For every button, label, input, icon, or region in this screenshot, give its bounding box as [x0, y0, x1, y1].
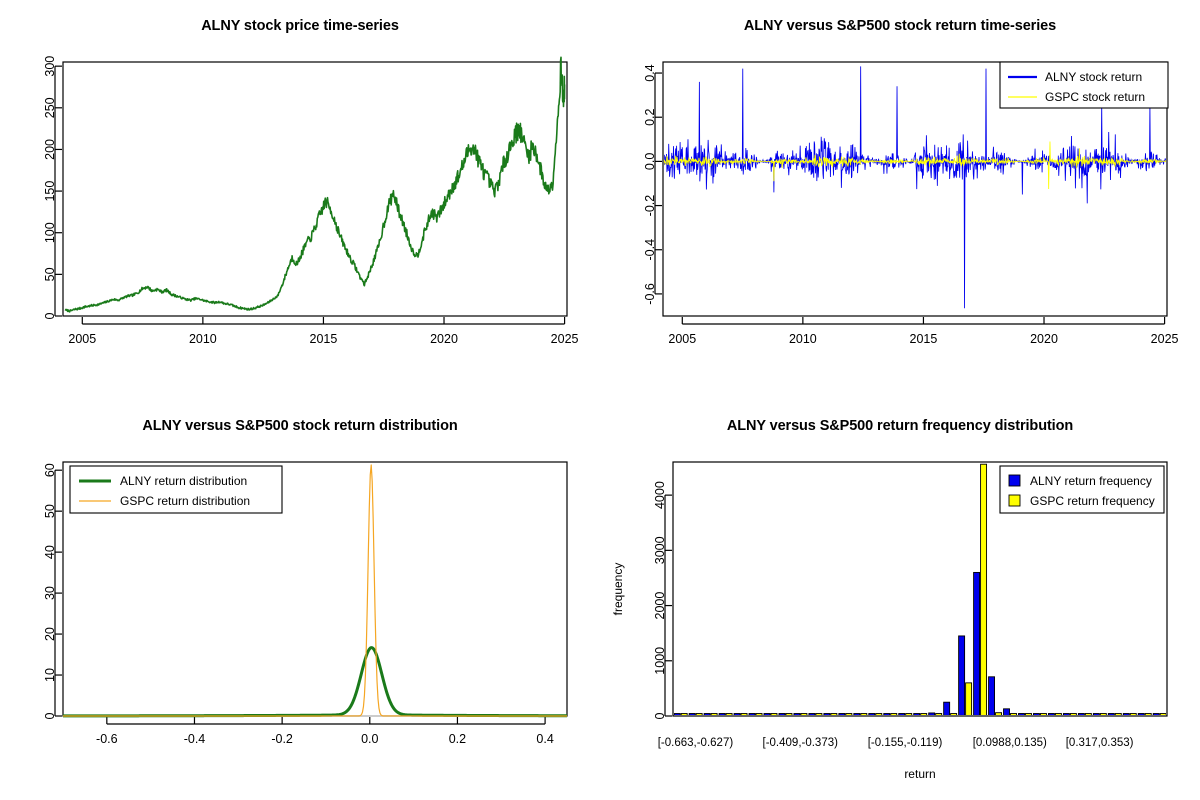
y-tick-label: 0 — [43, 312, 57, 319]
x-tick-label: 2020 — [1030, 332, 1058, 346]
panel-return-timeseries: ALNY versus S&P500 stock return time-ser… — [600, 0, 1200, 400]
y-tick-label: 4000 — [653, 481, 667, 509]
panel-title-histogram: ALNY versus S&P500 return frequency dist… — [600, 418, 1200, 434]
figure-grid: ALNY stock price time-series 05010015020… — [0, 0, 1200, 800]
y-axis-returns: -0.6-0.4-0.20.00.20.4 — [643, 64, 662, 304]
y-axis-title: frequency — [611, 563, 625, 616]
x-tick-label: 2010 — [789, 332, 817, 346]
y-tick-label: 0.4 — [643, 64, 657, 81]
price-line-alny — [65, 57, 564, 311]
y-tick-label: -0.6 — [643, 283, 657, 305]
plot-box-price — [63, 62, 567, 316]
panel-title-density: ALNY versus S&P500 stock return distribu… — [0, 418, 600, 434]
x-bin-label: [-0.663,-0.627) — [658, 737, 734, 749]
panel-return-frequency: ALNY versus S&P500 return frequency dist… — [600, 400, 1200, 800]
x-tick-label: 0.4 — [536, 732, 553, 746]
x-bin-label: [0.0988,0.135) — [973, 737, 1047, 749]
x-tick-label: 2025 — [1151, 332, 1179, 346]
y-tick-label: 100 — [43, 222, 57, 243]
bar-alny — [974, 572, 980, 716]
x-tick-label: 2005 — [68, 332, 96, 346]
y-tick-label: 1000 — [653, 647, 667, 675]
x-bin-label: [0.317,0.353) — [1066, 737, 1134, 749]
x-tick-label: 2020 — [430, 332, 458, 346]
y-tick-label: 300 — [43, 56, 57, 77]
y-tick-label: 0 — [653, 712, 667, 719]
x-tick-label: -0.4 — [184, 732, 206, 746]
x-axis-returns: 20052010201520202025 — [668, 317, 1178, 346]
legend-label: GSPC return distribution — [120, 494, 250, 508]
y-axis-price: 050100150200250300 — [43, 56, 62, 320]
y-tick-label: 50 — [43, 267, 57, 281]
x-tick-label: 2015 — [910, 332, 938, 346]
y-tick-label: 60 — [43, 463, 57, 477]
panel-title-price: ALNY stock price time-series — [0, 18, 600, 34]
y-tick-label: 20 — [43, 627, 57, 641]
panel-title-returns: ALNY versus S&P500 stock return time-ser… — [600, 18, 1200, 34]
chart-return-timeseries: -0.6-0.4-0.20.00.20.42005201020152020202… — [600, 0, 1200, 400]
x-bin-label: [-0.155,-0.119) — [868, 737, 943, 749]
legend-returns: ALNY stock returnGSPC stock return — [1000, 62, 1168, 108]
y-tick-label: 0 — [43, 712, 57, 719]
x-axis-price: 20052010201520202025 — [68, 317, 578, 346]
bar-gspc — [981, 464, 987, 716]
y-tick-label: 0.2 — [643, 108, 657, 125]
legend-histogram: ALNY return frequencyGSPC return frequen… — [1000, 466, 1164, 513]
x-axis-title: return — [904, 767, 935, 781]
y-tick-label: 30 — [43, 586, 57, 600]
y-tick-label: -0.2 — [643, 195, 657, 217]
y-tick-label: -0.4 — [643, 239, 657, 261]
bar-alny — [1004, 709, 1010, 716]
chart-return-distribution: 0102030405060-0.6-0.4-0.20.00.20.4ALNY r… — [0, 400, 600, 800]
x-bin-label: [-0.409,-0.373) — [763, 737, 839, 749]
bar-alny — [989, 677, 995, 716]
legend-label: GSPC stock return — [1045, 90, 1145, 104]
x-tick-label: 0.0 — [361, 732, 378, 746]
density-curve-alny — [63, 648, 567, 716]
y-tick-label: 2000 — [653, 592, 667, 620]
x-tick-label: 2010 — [189, 332, 217, 346]
y-axis-histogram: 01000200030004000 — [653, 481, 672, 719]
bar-alny — [959, 636, 965, 716]
legend-label: ALNY stock return — [1045, 70, 1142, 84]
x-tick-label: 0.2 — [449, 732, 466, 746]
y-tick-label: 3000 — [653, 536, 667, 564]
y-tick-label: 40 — [43, 545, 57, 559]
x-tick-label: 2005 — [668, 332, 696, 346]
x-axis-density: -0.6-0.4-0.20.00.20.4 — [96, 717, 554, 746]
bar-alny — [944, 702, 950, 716]
x-tick-label: 2015 — [310, 332, 338, 346]
y-tick-label: 10 — [43, 668, 57, 682]
x-axis-histogram: [-0.663,-0.627)[-0.409,-0.373)[-0.155,-0… — [658, 737, 1134, 749]
y-tick-label: 200 — [43, 139, 57, 160]
bar-gspc — [966, 683, 972, 716]
y-tick-label: 150 — [43, 181, 57, 202]
legend-label: ALNY return distribution — [120, 474, 247, 488]
y-tick-label: 50 — [43, 504, 57, 518]
legend-density: ALNY return distributionGSPC return dist… — [70, 466, 282, 513]
x-tick-label: -0.6 — [96, 732, 118, 746]
y-tick-label: 250 — [43, 97, 57, 118]
panel-return-distribution: ALNY versus S&P500 stock return distribu… — [0, 400, 600, 800]
y-tick-label: 0.0 — [643, 153, 657, 170]
y-axis-density: 0102030405060 — [43, 463, 62, 719]
legend-label: GSPC return frequency — [1030, 494, 1155, 508]
legend-label: ALNY return frequency — [1030, 474, 1152, 488]
x-tick-label: 2025 — [551, 332, 579, 346]
x-tick-label: -0.2 — [271, 732, 293, 746]
chart-return-frequency: 01000200030004000frequency[-0.663,-0.627… — [600, 400, 1200, 800]
panel-alny-price: ALNY stock price time-series 05010015020… — [0, 0, 600, 400]
chart-alny-price: 05010015020025030020052010201520202025 — [0, 0, 600, 400]
